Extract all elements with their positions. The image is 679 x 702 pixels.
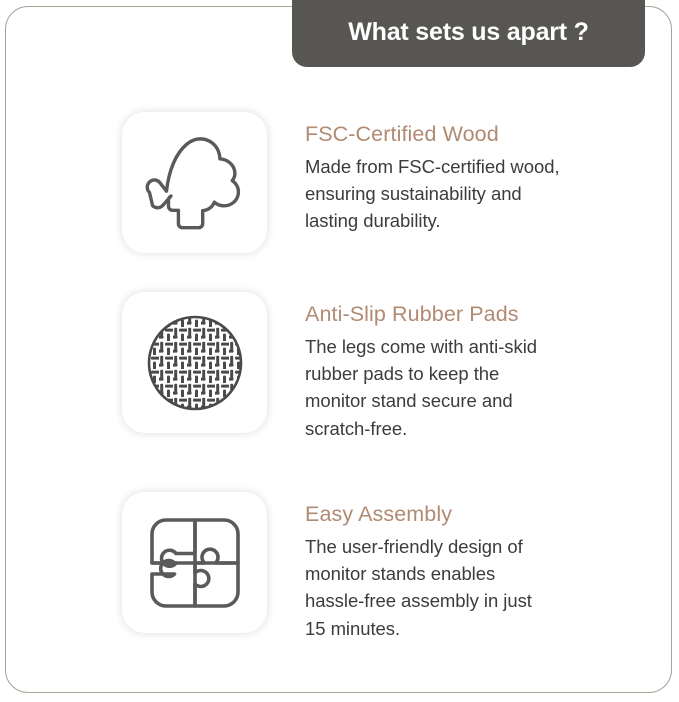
feature-description-line: Made from FSC-certified wood, <box>305 153 605 180</box>
fsc-tree-checkmark-icon <box>143 135 247 231</box>
feature-description-line: ensuring sustainability and <box>305 180 605 207</box>
section-header-banner: What sets us apart ? <box>292 0 645 67</box>
feature-description-line: lasting durability. <box>305 207 605 234</box>
feature-description-line: monitor stand secure and <box>305 387 605 414</box>
feature-description-line: hassle-free assembly in just <box>305 587 605 614</box>
page-title: What sets us apart ? <box>348 20 589 47</box>
feature-description-line: The legs come with anti-skid <box>305 333 605 360</box>
feature-icon-card <box>122 112 267 253</box>
feature-item-easy-assembly: Easy Assembly The user-friendly design o… <box>122 492 642 642</box>
feature-description: Made from FSC-certified wood, ensuring s… <box>305 153 605 235</box>
feature-description-line: 15 minutes. <box>305 615 605 642</box>
woven-rubber-pad-icon <box>145 313 245 413</box>
feature-title: FSC-Certified Wood <box>305 122 642 147</box>
feature-title: Easy Assembly <box>305 502 642 527</box>
feature-item-anti-slip-rubber-pads: Anti-Slip Rubber Pads The legs come with… <box>122 292 642 442</box>
feature-description-line: scratch-free. <box>305 415 605 442</box>
feature-text-block: Easy Assembly The user-friendly design o… <box>305 492 642 642</box>
feature-description: The legs come with anti-skid rubber pads… <box>305 333 605 443</box>
feature-description: The user-friendly design of monitor stan… <box>305 533 605 643</box>
feature-description-line: monitor stands enables <box>305 560 605 587</box>
feature-icon-card <box>122 492 267 633</box>
feature-title: Anti-Slip Rubber Pads <box>305 302 642 327</box>
feature-icon-card <box>122 292 267 433</box>
feature-text-block: FSC-Certified Wood Made from FSC-certifi… <box>305 112 642 235</box>
feature-description-line: rubber pads to keep the <box>305 360 605 387</box>
feature-description-line: The user-friendly design of <box>305 533 605 560</box>
jigsaw-puzzle-icon <box>148 516 242 610</box>
feature-list: FSC-Certified Wood Made from FSC-certifi… <box>0 0 679 702</box>
feature-text-block: Anti-Slip Rubber Pads The legs come with… <box>305 292 642 442</box>
feature-item-fsc-certified-wood: FSC-Certified Wood Made from FSC-certifi… <box>122 112 642 253</box>
